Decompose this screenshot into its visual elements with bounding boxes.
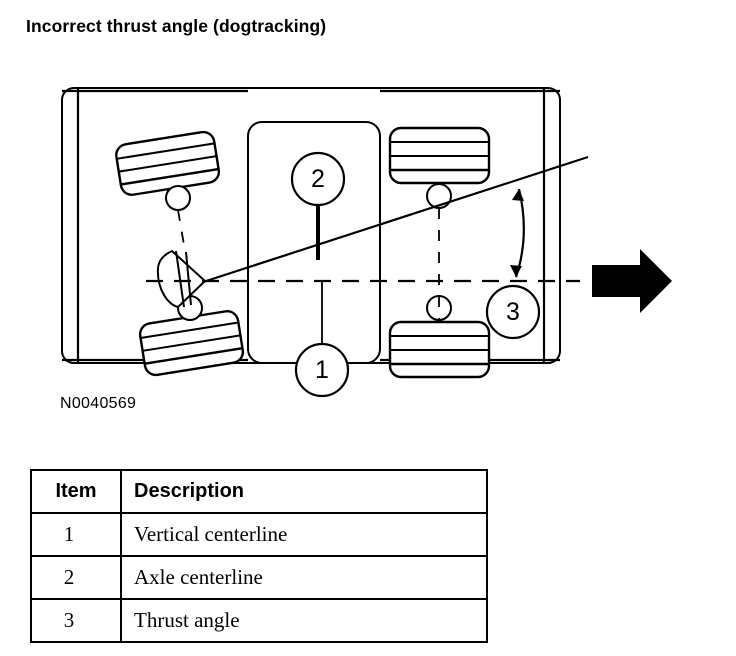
tire-rear-right [390,322,489,377]
callout-2[interactable]: 2 [292,153,344,205]
callout-1[interactable]: 1 [296,344,348,396]
legend-header-item: Item [31,470,121,513]
tire-front-left [115,130,221,196]
callout-3[interactable]: 3 [487,286,539,338]
angle-arc-icon [510,189,524,277]
hub-front-left [166,186,190,210]
table-row: 2 Axle centerline [31,556,487,599]
page-title: Incorrect thrust angle (dogtracking) [26,16,326,37]
legend-item-number: 3 [31,599,121,642]
callout-1-label: 1 [315,356,329,384]
figure-reference-number: N0040569 [60,395,136,413]
wheel-track-construction-lines [178,208,439,320]
legend-item-description: Vertical centerline [121,513,487,556]
thrust-angle-diagram: 2 1 3 [0,55,736,415]
legend-item-number: 2 [31,556,121,599]
legend-item-number: 1 [31,513,121,556]
table-row: 1 Vertical centerline [31,513,487,556]
legend-item-description: Axle centerline [121,556,487,599]
legend-header-row: Item Description [31,470,487,513]
legend-header-description: Description [121,470,487,513]
tire-front-right [390,128,489,183]
callout-2-label: 2 [311,165,325,193]
callout-3-label: 3 [506,298,520,326]
diagram-canvas: 2 1 3 [0,55,736,415]
travel-direction-arrow [592,249,672,313]
legend-item-description: Thrust angle [121,599,487,642]
legend-table: Item Description 1 Vertical centerline 2… [30,469,488,643]
table-row: 3 Thrust angle [31,599,487,642]
